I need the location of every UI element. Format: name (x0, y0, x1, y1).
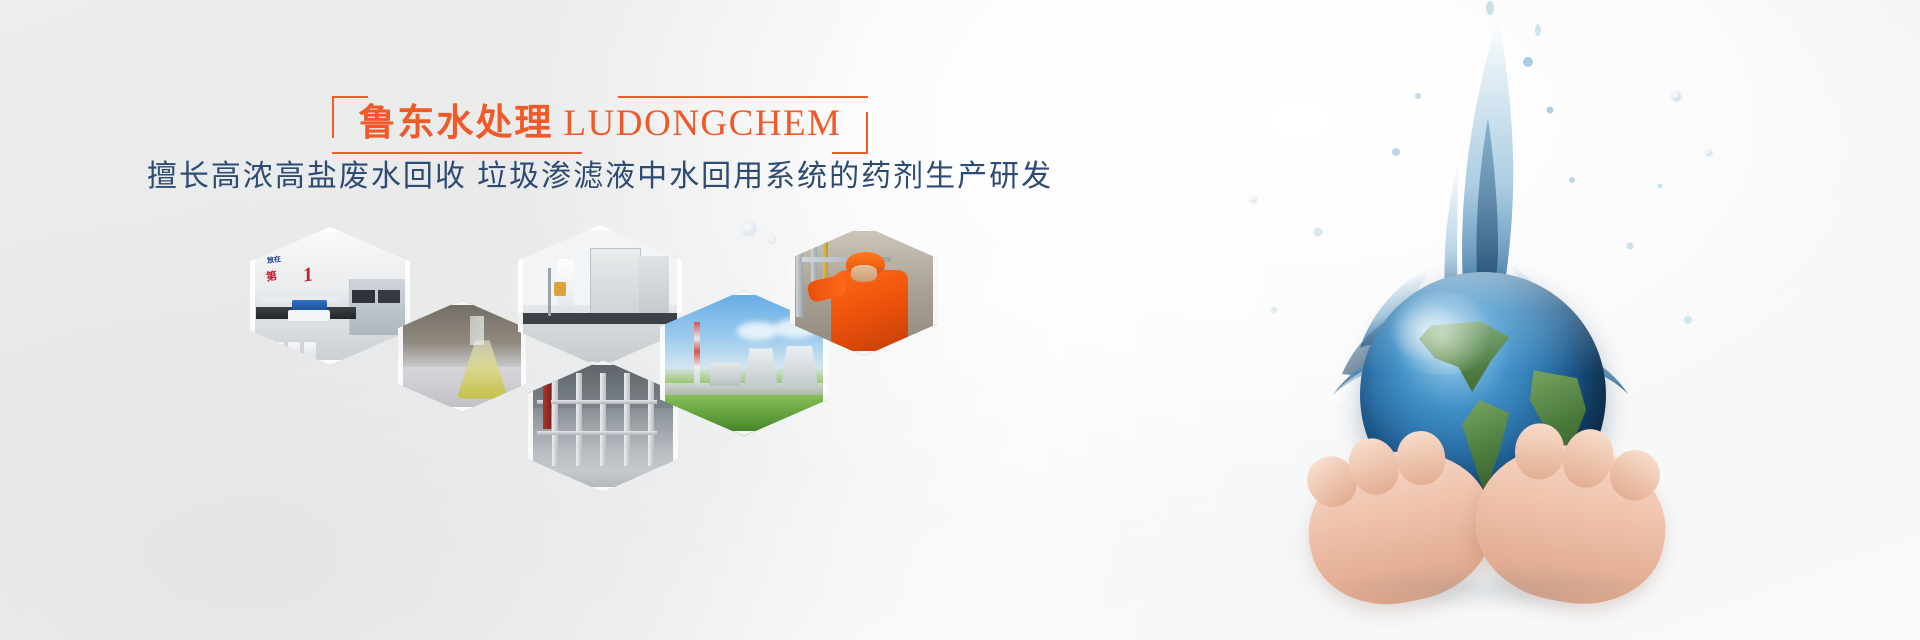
page-subtitle: 擅长高浓高盐废水回收 垃圾渗滤液中水回用系统的药剂生产研发 (0, 155, 1200, 199)
title-chinese: 鲁东水处理 (358, 103, 553, 144)
title-frame: 鲁东水处理LUDONGCHEM (332, 96, 867, 154)
headline-block: 鲁东水处理LUDONGCHEM (0, 96, 1200, 154)
continent-north-america (1419, 321, 1517, 395)
wall-slogan-top: 放在 (267, 254, 282, 266)
collage-hex-lab-room: 放在 第 1 (250, 227, 410, 365)
hero-banner: 放在 第 1 (0, 0, 1920, 640)
ground-reflection (1328, 566, 1658, 612)
collage-hex-equipment (518, 225, 682, 367)
wall-slogan-mid: 第 (265, 268, 278, 285)
frame-line-bottom-left (332, 152, 582, 154)
title-english: LUDONGCHEM (563, 103, 841, 144)
page-title: 鲁东水处理LUDONGCHEM (358, 102, 841, 146)
bubble-icon (1706, 150, 1712, 156)
frame-corner-bottom-right (832, 112, 868, 154)
wall-slogan-number: 1 (303, 263, 313, 288)
bubble-icon (1250, 196, 1257, 203)
collage-hex-piping (528, 360, 678, 492)
frame-corner-top-left (332, 96, 368, 138)
bubble-icon (1672, 92, 1681, 101)
collage-hex-flask (398, 300, 526, 412)
wall-slogan: 放在 第 1 (266, 255, 336, 288)
frame-line-top-right (618, 96, 868, 98)
